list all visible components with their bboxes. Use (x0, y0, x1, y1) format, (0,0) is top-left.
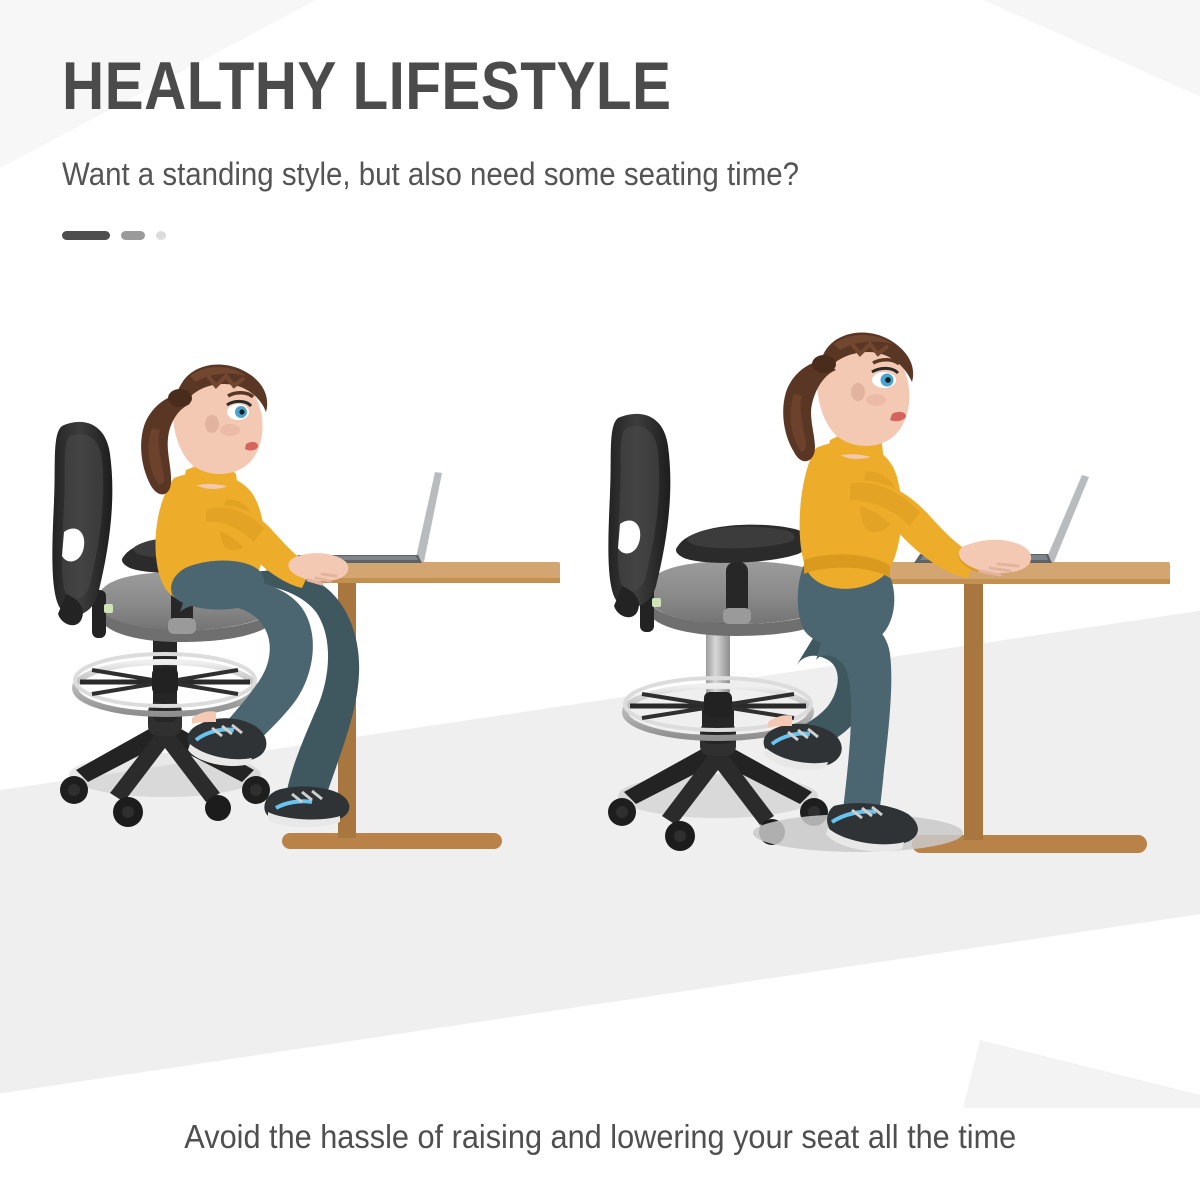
laptop-left (292, 472, 442, 563)
seat-tag (652, 598, 661, 607)
woman-standing (764, 332, 1032, 851)
chair-right (608, 414, 838, 851)
caster-left-4 (205, 795, 231, 821)
seat-tag (104, 604, 113, 613)
pagination-dot-2[interactable] (121, 231, 145, 240)
desk-leg (964, 582, 983, 840)
illustration-woman-standing (590, 330, 1170, 890)
page-title: HEALTHY LIFESTYLE (62, 52, 999, 120)
pagination-dot-active[interactable] (62, 231, 110, 240)
head (783, 332, 913, 461)
desk-top-edge (888, 579, 1170, 584)
page-subtitle: Want a standing style, but also need som… (62, 120, 1065, 193)
desk-foot (282, 833, 502, 849)
shoe-far (264, 787, 349, 828)
pagination-indicator[interactable] (62, 231, 166, 240)
footer-caption: Avoid the hassle of raising and lowering… (0, 1118, 1200, 1156)
chair-footring-left (75, 654, 255, 714)
desk-right (888, 562, 1170, 853)
illustration-woman-seated (40, 350, 560, 890)
footer-caption-text: Avoid the hassle of raising and lowering… (184, 1118, 1016, 1156)
laptop-screen (1045, 475, 1089, 562)
laptop-screen (415, 472, 442, 562)
header: HEALTHY LIFESTYLE Want a standing style,… (62, 52, 1152, 193)
promo-banner: HEALTHY LIFESTYLE Want a standing style,… (0, 0, 1200, 1200)
pagination-dot-3[interactable] (156, 231, 166, 240)
